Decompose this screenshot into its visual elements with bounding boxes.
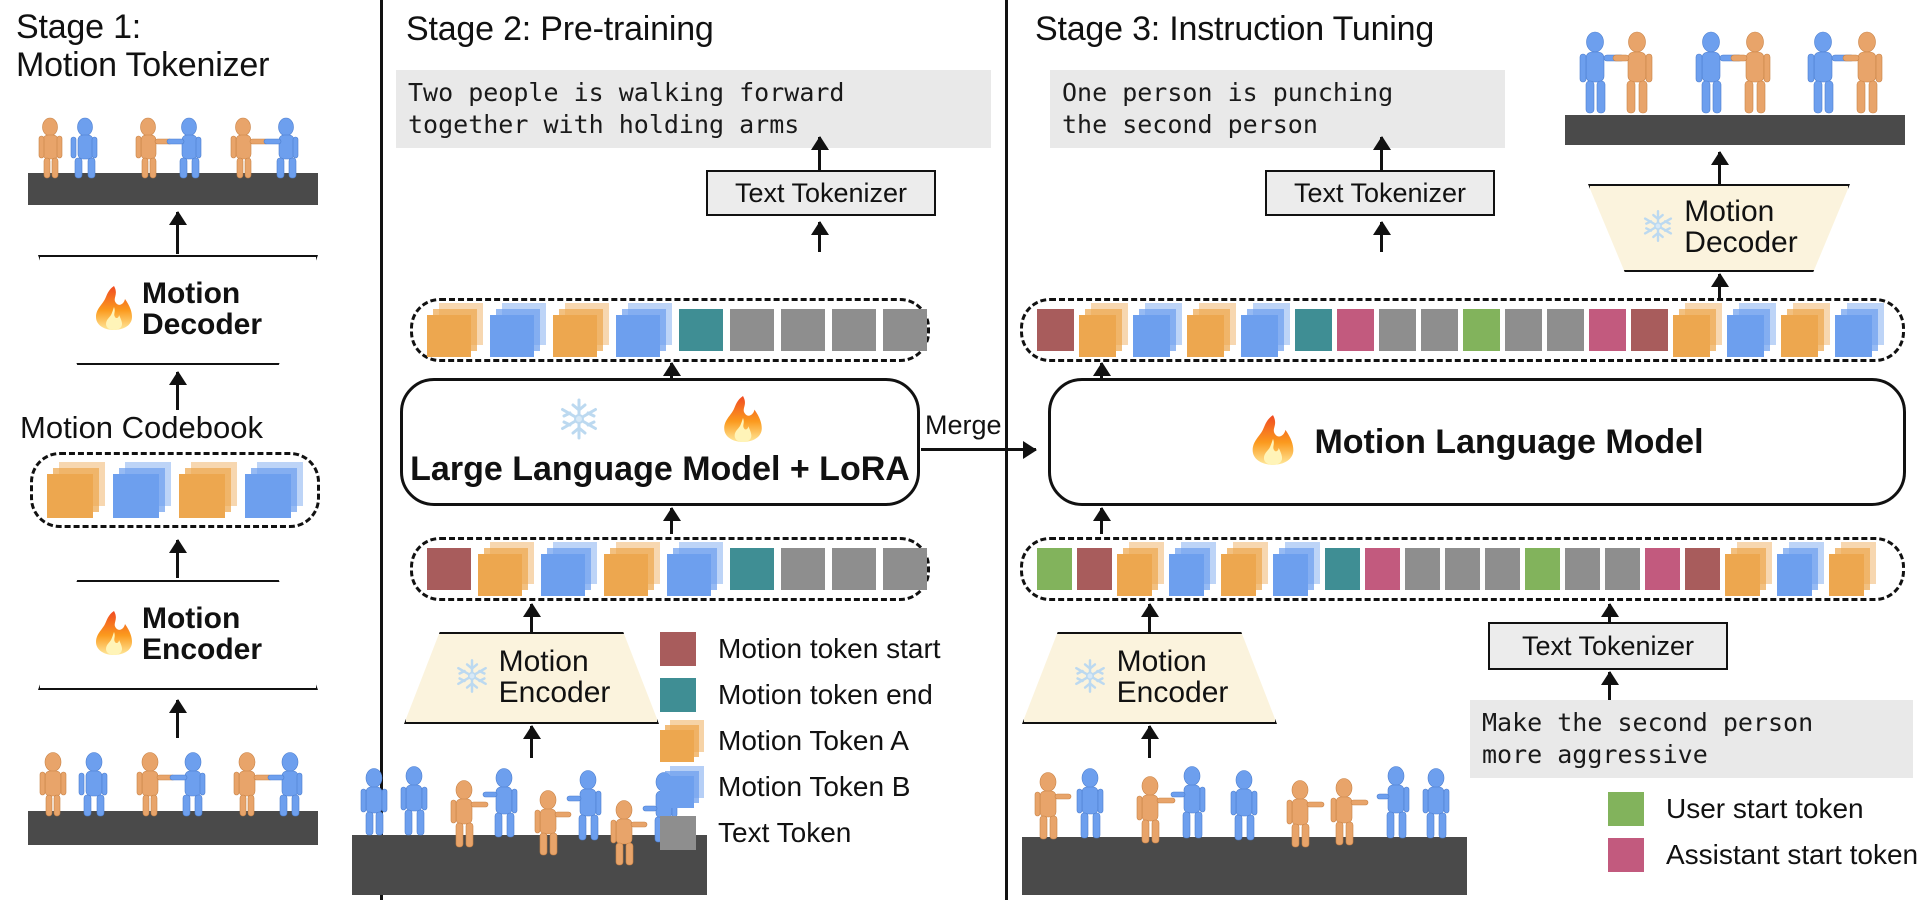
- legend-swatch-motion-start: [660, 628, 704, 670]
- token-text-token: [1485, 548, 1520, 590]
- token-motion-token-b: [1777, 542, 1824, 596]
- arrow-input-tokens-to-mlm-s3: [1100, 508, 1103, 534]
- token-motion-end: [679, 309, 723, 351]
- stage1-motion-decoder: Motion Decoder: [38, 255, 318, 365]
- stage3-output-motion: [1565, 20, 1905, 145]
- token-assistant-start: [1365, 548, 1400, 590]
- token-motion-token-a: [1673, 303, 1722, 357]
- legend-swatch-user-start: [1608, 788, 1652, 830]
- token-text-token: [883, 309, 927, 351]
- token-text-token: [781, 309, 825, 351]
- token-motion-token-b: [541, 542, 597, 596]
- stage2-output-tokens: [410, 298, 930, 362]
- token-motion-end: [730, 548, 774, 590]
- legend-swatch-text-token: [660, 812, 704, 854]
- token-motion-token-b: [1133, 303, 1182, 357]
- stage3-instruction-caption: Make the second person more aggressive: [1470, 700, 1913, 778]
- token-motion-start: [1077, 548, 1112, 590]
- token-text-token: [781, 548, 825, 590]
- token-text-token: [883, 548, 927, 590]
- token-motion-token-a: [1117, 542, 1164, 596]
- stage2-encoder-label: Motion Encoder: [499, 647, 611, 709]
- stage2-input-tokens: [410, 537, 930, 601]
- stage2-motion-encoder: Motion Encoder: [404, 632, 659, 724]
- arrow-texttok-to-caption-s2: [818, 137, 821, 171]
- stage3-text-tokenizer: Text Tokenizer: [1265, 170, 1495, 216]
- arrow-decoder-to-motion-s3: [1718, 152, 1721, 186]
- token-motion-token-a: [47, 462, 105, 518]
- token-motion-token-a: [1079, 303, 1128, 357]
- token-motion-start: [427, 548, 471, 590]
- stage1-codebook-label: Motion Codebook: [20, 410, 263, 446]
- token-motion-token-a: [1829, 542, 1876, 596]
- token-user-start: [1463, 309, 1500, 351]
- token-motion-token-b: [490, 303, 546, 357]
- snowflake-icon: [1071, 657, 1109, 700]
- snowflake-icon: [1640, 208, 1676, 249]
- token-motion-token-b: [616, 303, 672, 357]
- token-motion-start: [1631, 309, 1668, 351]
- token-user-start: [1037, 548, 1072, 590]
- stage3-output-tokens: [1020, 298, 1905, 362]
- merge-arrow: [921, 448, 1036, 451]
- stage3-instruction-text-tokenizer: Text Tokenizer: [1488, 622, 1728, 670]
- legend-label: Assistant start token: [1666, 839, 1918, 871]
- stage2-llm-box: Large Language Model + LoRA: [400, 378, 920, 506]
- token-user-start: [1525, 548, 1560, 590]
- token-assistant-start: [1645, 548, 1680, 590]
- arrow-input-motion-to-encoder: [176, 700, 179, 738]
- legend-label: Text Token: [718, 817, 851, 849]
- legend-label: Motion Token B: [718, 771, 911, 803]
- stage1-motion-encoder: Motion Encoder: [38, 580, 318, 690]
- fire-icon: [722, 395, 764, 448]
- token-motion-token-a: [478, 542, 534, 596]
- token-text-token: [832, 309, 876, 351]
- legend-label: Motion token start: [718, 633, 941, 665]
- legend-item: Assistant start token: [1608, 832, 1918, 878]
- arrow-tokens-to-decoder-s3: [1718, 274, 1721, 300]
- legend-label: Motion token end: [718, 679, 933, 711]
- token-motion-token-a: [553, 303, 609, 357]
- stage2-output-caption: Two people is walking forward together w…: [396, 70, 991, 148]
- token-motion-token-b: [1835, 303, 1884, 357]
- token-text-token: [730, 309, 774, 351]
- stage1-input-motion: [28, 740, 318, 845]
- stage3-input-motion: [1022, 720, 1467, 895]
- stage1-decoder-label: Motion Decoder: [142, 279, 262, 341]
- token-motion-end: [1295, 309, 1332, 351]
- arrow-instr-caption-to-texttok: [1608, 672, 1611, 700]
- stage3-encoder-label: Motion Encoder: [1117, 647, 1229, 709]
- token-motion-token-a: [1187, 303, 1236, 357]
- stage3-decoder-label: Motion Decoder: [1684, 197, 1797, 259]
- snowflake-icon: [556, 396, 602, 447]
- token-motion-token-b: [1241, 303, 1290, 357]
- legend-item: Motion token start: [660, 626, 941, 672]
- arrow-encoder-to-input-tokens-s2: [530, 604, 533, 634]
- figure-root: Stage 1: Motion Tokenizer: [0, 0, 1920, 900]
- arrow-encoder-to-input-tokens-s3: [1148, 604, 1151, 634]
- stage1-codebook-strip: [30, 452, 320, 528]
- token-text-token: [1405, 548, 1440, 590]
- arrow-decoder-to-motion: [176, 212, 179, 254]
- token-text-token: [1547, 309, 1584, 351]
- token-motion-token-a: [1781, 303, 1830, 357]
- merge-label: Merge: [925, 410, 1002, 441]
- arrow-input-tokens-to-llm-s2: [670, 508, 673, 534]
- legend-swatch-motion-token-b: [660, 766, 704, 808]
- stage2-input-motion: [352, 720, 707, 895]
- stage2-llm-name: Large Language Model + LoRA: [410, 450, 910, 489]
- stage2-legend: Motion token startMotion token endMotion…: [660, 626, 941, 856]
- token-motion-start: [1037, 309, 1074, 351]
- stage2-title: Stage 2: Pre-training: [406, 10, 714, 48]
- legend-label: User start token: [1666, 793, 1864, 825]
- token-motion-token-a: [179, 462, 237, 518]
- stage1-output-motion: [28, 105, 318, 205]
- token-motion-token-b: [1169, 542, 1216, 596]
- legend-swatch-motion-end: [660, 674, 704, 716]
- token-motion-end: [1325, 548, 1360, 590]
- fire-icon: [94, 610, 134, 661]
- stage3-title: Stage 3: Instruction Tuning: [1035, 10, 1434, 48]
- token-motion-token-a: [427, 303, 483, 357]
- token-text-token: [1565, 548, 1600, 590]
- stage1-title: Stage 1: Motion Tokenizer: [16, 8, 269, 84]
- legend-item: User start token: [1608, 786, 1918, 832]
- stage3-motion-decoder: Motion Decoder: [1588, 184, 1850, 272]
- token-motion-token-b: [667, 542, 723, 596]
- legend-item: Text Token: [660, 810, 941, 856]
- token-text-token: [1445, 548, 1480, 590]
- token-motion-token-a: [1725, 542, 1772, 596]
- snowflake-icon: [453, 657, 491, 700]
- legend-swatch-assistant-start: [1608, 834, 1652, 876]
- stage2-llm-icons: [556, 395, 764, 448]
- stage1-encoder-label: Motion Encoder: [142, 604, 262, 666]
- stage2-text-tokenizer: Text Tokenizer: [706, 170, 936, 216]
- arrow-codebook-to-decoder: [176, 372, 179, 410]
- fire-icon: [94, 285, 134, 336]
- legend-swatch-motion-token-a: [660, 720, 704, 762]
- token-motion-token-b: [1273, 542, 1320, 596]
- token-text-token: [1421, 309, 1458, 351]
- arrow-texttok-to-caption-s3: [1380, 137, 1383, 171]
- token-motion-start: [1685, 548, 1720, 590]
- legend-item: Motion token end: [660, 672, 941, 718]
- token-motion-token-a: [1221, 542, 1268, 596]
- token-text-token: [1505, 309, 1542, 351]
- legend-label: Motion Token A: [718, 725, 909, 757]
- stage3-legend: User start tokenAssistant start token: [1608, 786, 1918, 878]
- token-text-token: [832, 548, 876, 590]
- stage3-mlm-name: Motion Language Model: [1314, 423, 1703, 462]
- token-text-token: [1605, 548, 1640, 590]
- arrow-tokens-to-texttok-s2: [818, 222, 821, 252]
- legend-item: Motion Token B: [660, 764, 941, 810]
- token-assistant-start: [1337, 309, 1374, 351]
- stage3-motion-encoder: Motion Encoder: [1022, 632, 1277, 724]
- stage3-output-caption: One person is punching the second person: [1050, 70, 1505, 148]
- arrow-encoder-to-codebook: [176, 540, 179, 578]
- token-motion-token-b: [245, 462, 303, 518]
- stage3-mlm-box: Motion Language Model: [1048, 378, 1906, 506]
- fire-icon: [1250, 414, 1296, 471]
- token-motion-token-a: [604, 542, 660, 596]
- arrow-tokens-to-texttok-s3: [1380, 222, 1383, 252]
- stage3-input-tokens: [1020, 537, 1905, 601]
- token-assistant-start: [1589, 309, 1626, 351]
- token-text-token: [1379, 309, 1416, 351]
- token-motion-token-b: [1727, 303, 1776, 357]
- token-motion-token-b: [113, 462, 171, 518]
- legend-item: Motion Token A: [660, 718, 941, 764]
